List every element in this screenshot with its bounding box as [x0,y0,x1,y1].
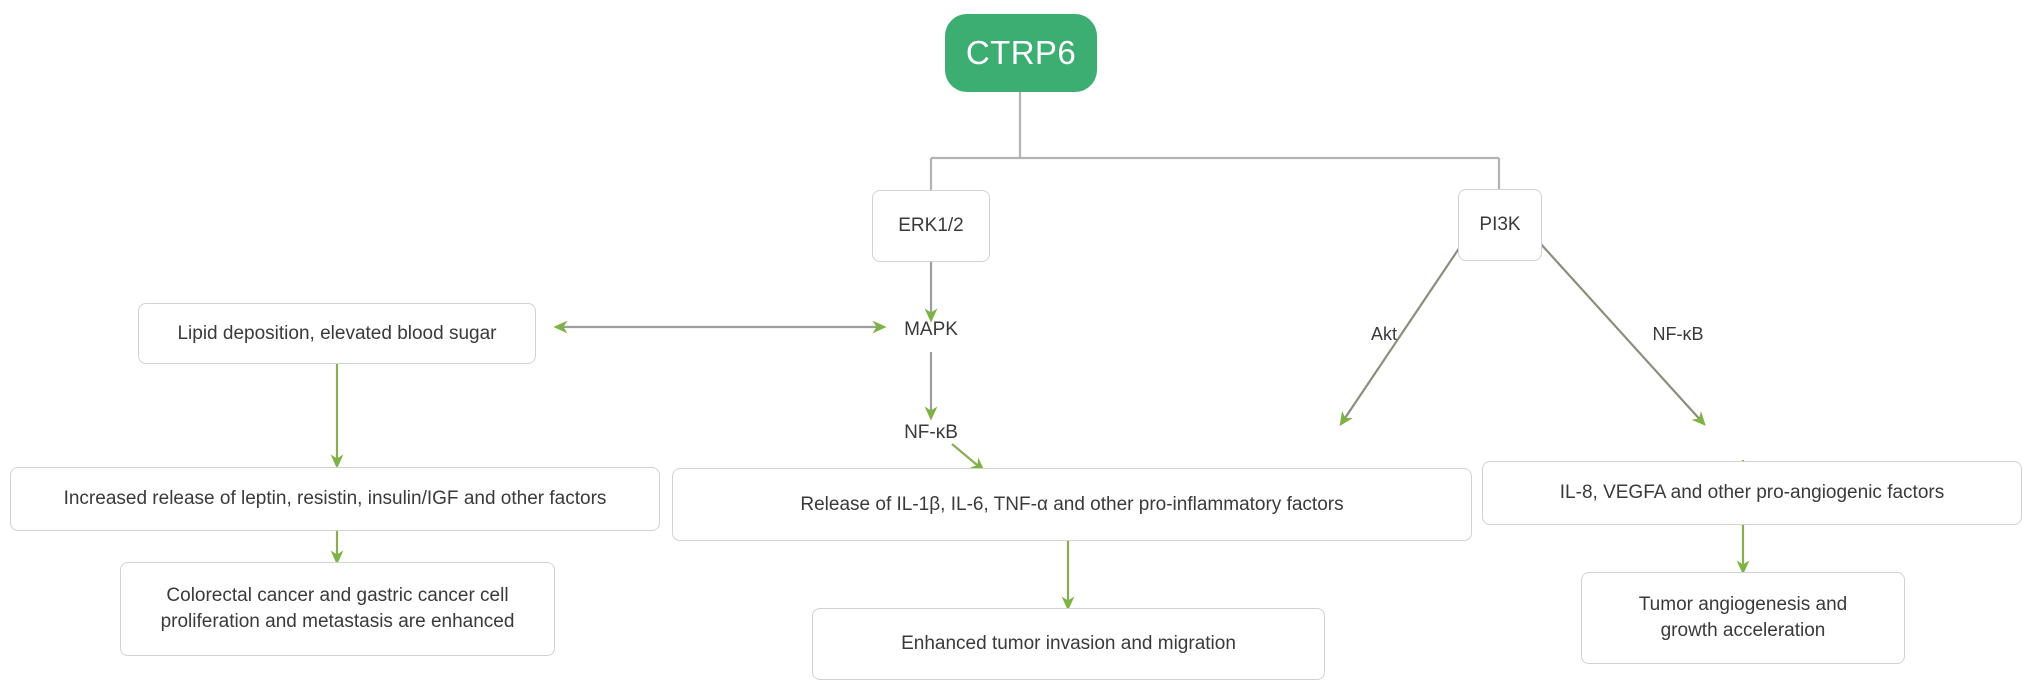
node-pro-inflammatory-label: Release of IL-1β, IL-6, TNF-α and other … [800,492,1343,517]
node-mapk[interactable]: MAPK [880,316,982,344]
node-colorectal-gastric-line2: proliferation and metastasis are enhance… [161,609,515,635]
node-lipid-deposition-label: Lipid deposition, elevated blood sugar [177,321,496,346]
node-pro-inflammatory[interactable]: Release of IL-1β, IL-6, TNF-α and other … [672,468,1472,541]
node-pro-angiogenic[interactable]: IL-8, VEGFA and other pro-angiogenic fac… [1482,461,2022,525]
pathway-diagram: CTRP6 ERK1/2 PI3K MAPK NF-κB Akt NF-κB L… [0,0,2032,699]
node-colorectal-gastric-line1: Colorectal cancer and gastric cancer cel… [166,583,508,609]
node-tumor-invasion-label: Enhanced tumor invasion and migration [901,631,1236,656]
node-tumor-invasion[interactable]: Enhanced tumor invasion and migration [812,608,1325,680]
node-tumor-angiogenesis[interactable]: Tumor angiogenesis and growth accelerati… [1581,572,1905,664]
node-mapk-label: MAPK [904,317,958,342]
node-pi3k[interactable]: PI3K [1458,189,1542,261]
edge-label-nfkb-right-text: NF-κB [1653,323,1704,347]
node-tumor-angiogenesis-line2: growth acceleration [1661,618,1826,644]
edge-label-akt: Akt [1352,322,1416,348]
node-colorectal-gastric[interactable]: Colorectal cancer and gastric cancer cel… [120,562,555,656]
node-ctrp6[interactable]: CTRP6 [945,14,1097,92]
node-erk1-2[interactable]: ERK1/2 [872,190,990,262]
edge-label-nfkb-right: NF-κB [1640,322,1716,348]
node-increased-release[interactable]: Increased release of leptin, resistin, i… [10,467,660,531]
node-nfkb-middle[interactable]: NF-κB [882,419,980,447]
node-erk1-2-label: ERK1/2 [898,213,963,238]
node-lipid-deposition[interactable]: Lipid deposition, elevated blood sugar [138,303,536,364]
node-tumor-angiogenesis-line1: Tumor angiogenesis and [1639,592,1847,618]
node-increased-release-label: Increased release of leptin, resistin, i… [64,486,607,511]
node-pro-angiogenic-label: IL-8, VEGFA and other pro-angiogenic fac… [1560,480,1944,505]
edge-label-akt-text: Akt [1371,323,1397,347]
node-pi3k-label: PI3K [1479,212,1520,237]
node-ctrp6-label: CTRP6 [966,31,1076,75]
edge-nfkb-to-inflammatory [952,444,983,470]
node-nfkb-middle-label: NF-κB [904,420,958,445]
